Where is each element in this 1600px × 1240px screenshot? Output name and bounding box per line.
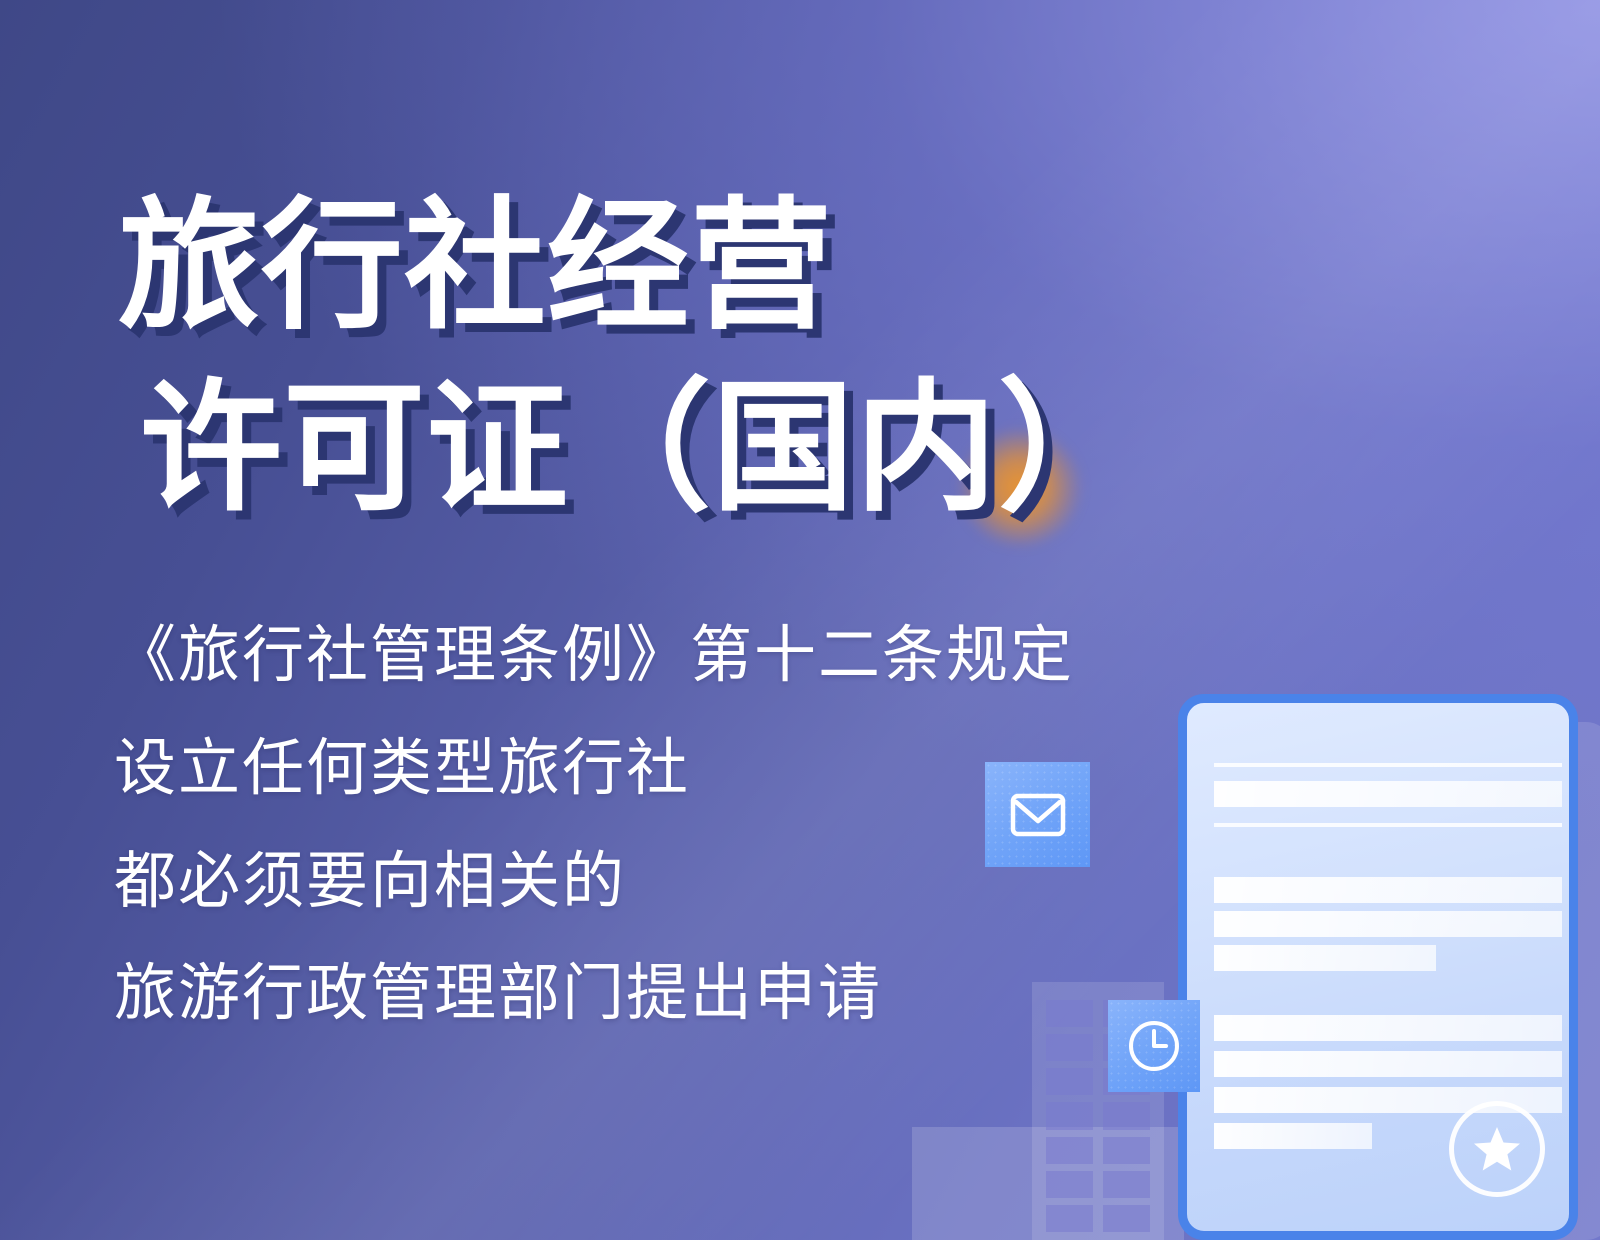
document-text-bar	[1214, 781, 1562, 807]
poster-canvas: 旅行社经营 许可证（国内） 《旅行社管理条例》第十二条规定 设立任何类型旅行社 …	[0, 0, 1600, 1240]
building-window	[1103, 1137, 1150, 1164]
building-window	[1103, 1171, 1150, 1198]
body-line-1: 《旅行社管理条例》第十二条规定	[114, 600, 1074, 713]
building-window	[1046, 1102, 1093, 1129]
document-text-bar	[1214, 911, 1562, 937]
title-line-1: 旅行社经营	[118, 176, 1141, 358]
document-text-bar	[1214, 1123, 1372, 1149]
building-window	[1046, 1068, 1093, 1095]
document-text-bar	[1214, 1015, 1562, 1041]
clock-tile	[1108, 1000, 1200, 1092]
document-text-bar	[1214, 877, 1562, 903]
document-rule-line	[1214, 823, 1562, 827]
document-text-bar	[1214, 1051, 1562, 1077]
document-text-bar	[1214, 945, 1436, 971]
building-window	[1046, 1205, 1093, 1232]
building-window	[1103, 1205, 1150, 1232]
clock-icon	[1126, 1018, 1182, 1074]
body-line-2: 设立任何类型旅行社	[114, 713, 1074, 826]
license-document-card	[1178, 694, 1578, 1240]
document-rule-line	[1214, 763, 1562, 767]
poster-title: 旅行社经营 许可证（国内）	[118, 176, 1141, 540]
title-line-2: 许可证（国内）	[140, 358, 1141, 540]
poster-body: 《旅行社管理条例》第十二条规定 设立任何类型旅行社 都必须要向相关的 旅游行政管…	[114, 600, 1074, 1051]
building-window	[1046, 1137, 1093, 1164]
star-seal-icon	[1449, 1101, 1545, 1197]
body-line-4: 旅游行政管理部门提出申请	[114, 938, 1074, 1051]
building-window	[1103, 1102, 1150, 1129]
body-line-3: 都必须要向相关的	[114, 826, 1074, 939]
building-window	[1046, 1171, 1093, 1198]
